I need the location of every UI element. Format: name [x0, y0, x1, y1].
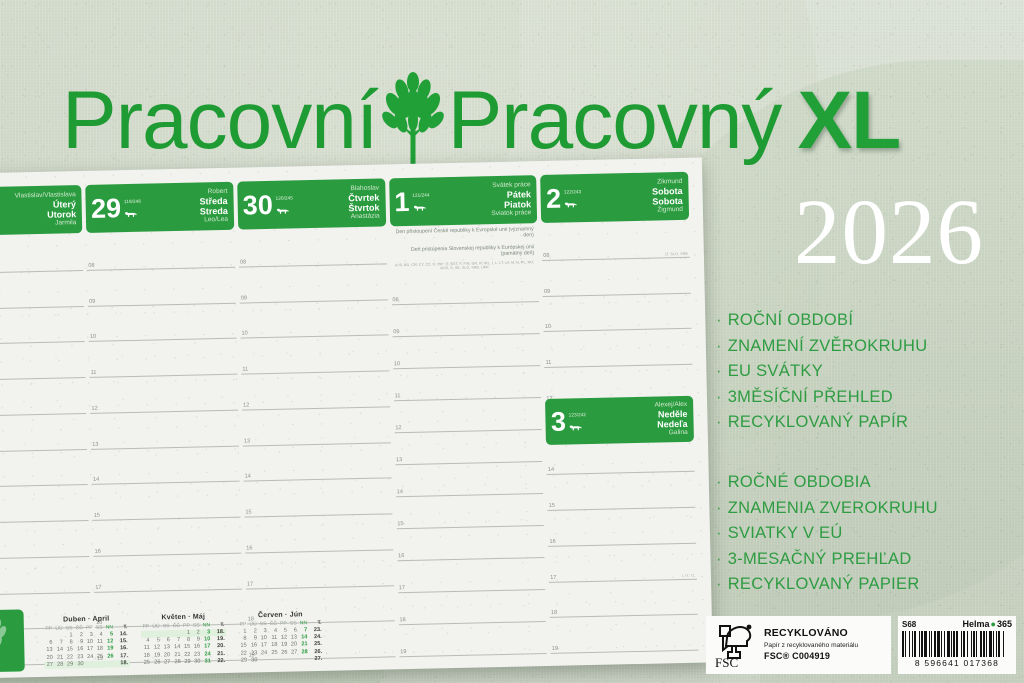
- week-number-box: 18. týden týždeň DUBEN · KVĚTEN APRÍL · …: [0, 609, 25, 676]
- mini-day[interactable]: [279, 656, 289, 663]
- feature-item: · SVIATKY V EÚ: [716, 521, 1016, 547]
- hour-row[interactable]: 16: [0, 521, 90, 560]
- mini-day[interactable]: 25: [269, 649, 280, 656]
- hour-row[interactable]: 09: [87, 267, 235, 306]
- hour-row[interactable]: 09: [542, 258, 690, 297]
- day-number: 2: [546, 185, 562, 212]
- mini-month-title: Květen · Máj: [141, 613, 226, 622]
- barcode-bar: [1004, 631, 1006, 657]
- bullet-icon: ·: [716, 362, 722, 380]
- hour-row[interactable]: 10: [88, 303, 236, 342]
- hour-row[interactable]: 13: [242, 407, 390, 446]
- hour-label: 14: [548, 467, 554, 473]
- feature-label: ROČNÍ OBDOBÍ: [728, 311, 854, 329]
- hour-label: 10: [394, 361, 400, 367]
- fsc-badge: FSC RECYKLOVÁNO Papír z recyklovaného ma…: [706, 616, 891, 674]
- mini-day[interactable]: 19: [151, 652, 162, 659]
- hour-label: 17: [247, 581, 253, 587]
- hour-row[interactable]: 09: [0, 271, 84, 310]
- weekday-cz: Čtvrtek: [348, 192, 379, 203]
- day-names: Svátek prácePátekPiatokSviatok práce: [491, 179, 532, 220]
- hour-row[interactable]: 14: [243, 443, 391, 482]
- mini-day[interactable]: 30: [75, 661, 86, 668]
- feature-item: · 3-MESAČNÝ PREHĽAD: [716, 547, 1016, 573]
- sku-label: S68: [902, 620, 916, 629]
- mini-day[interactable]: [299, 656, 310, 663]
- mini-day[interactable]: 23: [248, 650, 259, 657]
- mini-day[interactable]: 16: [248, 643, 259, 650]
- day-names: Vlastislav/VlastislavaÚterýUtorokJarmila: [14, 189, 76, 230]
- nameday-bottom: Galina: [655, 429, 688, 438]
- nameday-bottom: Jarmila: [15, 219, 76, 229]
- hour-row[interactable]: 17: [245, 550, 393, 589]
- brand-suffix: 365: [997, 619, 1012, 629]
- mini-day[interactable]: 28: [54, 661, 65, 668]
- hour-label: 15: [245, 509, 251, 515]
- hour-row[interactable]: 15: [396, 494, 544, 529]
- bullet-icon: ·: [716, 550, 722, 568]
- hour-country-note: I, IT, TL: [682, 573, 695, 577]
- hour-label: 08: [240, 259, 246, 265]
- taurus-icon: [124, 210, 137, 219]
- mini-day[interactable]: 18: [269, 642, 280, 649]
- feature-label: SVIATKY V EÚ: [728, 524, 843, 542]
- day-of-year: 122/243: [564, 189, 581, 194]
- svg-text:FSC: FSC: [715, 655, 738, 668]
- feature-list-czech: · ROČNÍ OBDOBÍ · ZNAMENÍ ZVĚROKRUHU · EU…: [716, 308, 1016, 436]
- nameday-bottom: Leo/Lea: [200, 216, 228, 225]
- mini-day[interactable]: 21: [54, 654, 65, 661]
- feature-label: ROČNÉ OBDOBIA: [728, 473, 871, 491]
- barcode-card: S68 Helma●365 8 596641 017368: [898, 616, 1016, 674]
- hour-row[interactable]: 15: [244, 479, 392, 518]
- hour-label: 11: [242, 366, 248, 372]
- hour-label: 12: [91, 405, 97, 411]
- bullet-icon: ·: [716, 337, 722, 355]
- feature-item: · ZNAMENÍ ZVĚROKRUHU: [716, 334, 1016, 360]
- mini-day[interactable]: [95, 660, 105, 667]
- nameday-bottom: Žigmund: [652, 206, 683, 215]
- bullet-icon: ·: [716, 473, 722, 491]
- day-number-group: 30120/245: [242, 184, 291, 225]
- feature-item: · ZNAMENIA ZVEROKRUHU: [716, 496, 1016, 522]
- mini-day[interactable]: 14: [54, 647, 65, 654]
- mini-week-number: 16.: [115, 645, 130, 653]
- mini-week-number: 26.: [309, 648, 324, 656]
- day-names: BlahoslavČtvrtekŠtvrtokAnastázia: [348, 183, 380, 224]
- nameday-bottom: Sviatok práce: [491, 209, 531, 218]
- feature-label: RECYKLOVANÝ PAPIER: [728, 575, 920, 593]
- hour-row[interactable]: 16: [548, 508, 696, 547]
- hour-label: 12: [395, 425, 401, 431]
- mini-day[interactable]: [105, 660, 116, 667]
- hour-label: 13: [92, 441, 98, 447]
- mini-week-row: 2526272829303122.: [142, 658, 227, 667]
- hour-row[interactable]: 12: [241, 371, 389, 410]
- mini-day[interactable]: 31: [202, 658, 213, 665]
- mini-dow: ČČ: [171, 623, 182, 630]
- mini-day[interactable]: 29: [182, 659, 192, 666]
- mini-month-title: Červen · Jún: [238, 611, 323, 620]
- mini-day[interactable]: 24: [202, 651, 213, 658]
- mini-week-number: 22.: [212, 658, 227, 666]
- mini-day[interactable]: 28: [172, 659, 183, 666]
- feature-label: 3MĚSÍČNÍ PŘEHLED: [728, 388, 893, 406]
- mini-day[interactable]: [259, 657, 269, 664]
- hour-label: 08: [543, 253, 549, 259]
- hour-label: 09: [544, 288, 550, 294]
- day-of-year: 123/242: [569, 412, 586, 417]
- hour-row[interactable]: 10: [240, 300, 388, 339]
- mini-dow: ÚÚ: [54, 625, 65, 632]
- day-header[interactable]: 30120/245BlahoslavČtvrtekŠtvrtokAnastázi…: [237, 178, 386, 229]
- feature-label: EU SVÁTKY: [728, 362, 823, 380]
- hour-label: 13: [244, 438, 250, 444]
- mini-day[interactable]: [269, 657, 280, 664]
- hour-label: 11: [395, 393, 401, 399]
- hour-row[interactable]: 14: [395, 462, 543, 497]
- title-czech: Pracovní: [62, 80, 378, 162]
- day-number-group: 3123/242: [551, 408, 585, 436]
- bullet-icon: ·: [716, 311, 722, 329]
- hour-label: 15: [94, 513, 100, 519]
- hour-row[interactable]: 12: [394, 398, 542, 433]
- day-number: 29: [91, 195, 122, 223]
- weekday-sk: Sobota: [652, 196, 683, 207]
- hour-row[interactable]: 16: [245, 514, 393, 553]
- feature-item: · RECYKLOVANÝ PAPIER: [716, 572, 1016, 598]
- holiday-note: Den přistoupení České republiky k Evrops…: [390, 223, 538, 260]
- feature-item: · EU SVÁTKY: [716, 359, 1016, 385]
- hour-country-note: IT, SLO, SRB: [665, 252, 688, 256]
- hour-row[interactable]: 13: [394, 430, 542, 465]
- fsc-line-1: RECYKLOVÁNO: [764, 628, 858, 640]
- brand-mark-icon: ●: [991, 619, 996, 629]
- hour-row[interactable]: 13: [0, 414, 87, 453]
- mini-month: Duben · AprilPPÚÚSSČČPPSSNNT.1234514.678…: [44, 615, 130, 669]
- brand-logo: Helma●365: [963, 619, 1012, 629]
- mini-week-number: 20.: [212, 643, 227, 651]
- day-header[interactable]: 1121/244Svátek prácePátekPiatokSviatok p…: [389, 175, 538, 226]
- brand-name: Helma: [963, 619, 990, 629]
- feature-label: ZNAMENÍ ZVĚROKRUHU: [728, 337, 928, 355]
- mini-month-title: Duben · April: [44, 615, 129, 624]
- title-slovak: Pracovný: [448, 80, 782, 162]
- day-of-year: 121/244: [412, 192, 429, 197]
- day-header[interactable]: 29119/246RobertStředaStredaLeo/Lea: [86, 182, 235, 233]
- mini-day[interactable]: 30: [192, 658, 202, 665]
- nameday-bottom: Anastázia: [349, 212, 380, 221]
- title-badge-xl: XL: [797, 80, 900, 162]
- mini-day[interactable]: 30: [249, 657, 260, 664]
- taurus-icon: [569, 423, 582, 432]
- hour-row[interactable]: 12: [90, 375, 238, 414]
- mini-week-row: 293027.: [239, 656, 324, 665]
- feature-list-slovak: · ROČNÉ OBDOBIA · ZNAMENIA ZVEROKRUHU · …: [716, 470, 1016, 598]
- fsc-tree-icon: FSC: [714, 622, 758, 668]
- day-number-group: 1121/244: [394, 181, 428, 222]
- hour-row[interactable]: 17: [0, 557, 90, 596]
- weekday-cz: Sobota: [652, 186, 683, 197]
- mini-week-number: 27.: [309, 656, 324, 664]
- fsc-line-2: Papír z recyklovaného materiálu: [764, 642, 858, 650]
- weekday-cz: Středa: [200, 196, 228, 207]
- hour-label: 10: [90, 334, 96, 340]
- hour-label: 14: [397, 489, 403, 495]
- hour-label: 16: [246, 545, 252, 551]
- hour-label: 16: [398, 553, 404, 559]
- day-number: 1: [394, 188, 410, 215]
- feature-label: RECYKLOVANÝ PAPÍR: [728, 413, 909, 431]
- sunday-block[interactable]: 3123/242Alexej/AlexNeděleNedeľaGalina: [545, 396, 694, 445]
- mini-day[interactable]: 25: [142, 659, 152, 666]
- mini-day[interactable]: 29: [239, 657, 249, 664]
- day-names: Alexej/AlexNeděleNedeľaGalina: [654, 401, 687, 438]
- hour-row[interactable]: 10: [543, 293, 691, 332]
- brand-wordmark: Pracovní Pracovný XL: [62, 66, 900, 176]
- mini-month-group: Duben · AprilPPÚÚSSČČPPSSNNT.1234514.678…: [44, 611, 324, 671]
- hour-row[interactable]: 14: [0, 449, 88, 488]
- bullet-icon: ·: [716, 524, 722, 542]
- mini-day[interactable]: 27: [45, 662, 55, 669]
- mini-day[interactable]: [289, 656, 299, 663]
- barcode-header: S68 Helma●365: [902, 619, 1012, 629]
- hour-row[interactable]: 09: [392, 302, 540, 337]
- mini-month: Květen · MájPPÚÚSSČČPPSSNNT.12318.456789…: [141, 613, 227, 667]
- hour-label: 14: [245, 474, 251, 480]
- mini-week-number: 17.: [115, 653, 130, 661]
- hour-label: 17: [550, 574, 556, 580]
- bullet-icon: ·: [716, 388, 722, 406]
- tree-icon: [382, 70, 444, 172]
- mini-month-table: PPÚÚSSČČPPSSNNT.12318.4567891019.1112131…: [141, 622, 227, 667]
- feature-item: · RECYKLOVANÝ PAPÍR: [716, 410, 1016, 436]
- fsc-text: RECYKLOVÁNO Papír z recyklovaného materi…: [764, 628, 858, 662]
- hour-row[interactable]: 11: [544, 329, 692, 368]
- day-number-group: 29119/246: [91, 188, 140, 229]
- calendar-sheet: 27117/248JaroslavPondělíPondelokJaroslav…: [0, 157, 713, 682]
- taurus-icon: [564, 200, 577, 209]
- day-of-year: 120/245: [276, 195, 293, 200]
- feature-item: · ROČNÉ OBDOBIA: [716, 470, 1016, 496]
- hour-row[interactable]: 17I, IT, TL: [549, 543, 697, 582]
- mini-week-number: 25.: [309, 641, 324, 649]
- year-label: 2026: [794, 186, 984, 279]
- hour-row[interactable]: 17: [94, 553, 242, 592]
- hour-row[interactable]: 11: [241, 336, 389, 375]
- mini-day[interactable]: 17: [202, 644, 213, 651]
- hour-label: 12: [243, 402, 249, 408]
- day-header[interactable]: 28118/247Vlastislav/VlastislavaÚterýUtor…: [0, 185, 83, 236]
- hour-row[interactable]: 15: [92, 482, 240, 521]
- hour-label: 17: [95, 584, 101, 590]
- hour-row[interactable]: 10: [0, 307, 85, 346]
- hour-label: 08: [392, 297, 398, 303]
- mini-day[interactable]: [85, 661, 95, 668]
- hour-row[interactable]: 14: [91, 446, 239, 485]
- poster-canvas: Pracovní Pracovný XL: [0, 0, 1024, 683]
- hour-row[interactable]: 15: [547, 472, 695, 511]
- mini-month-table: PPÚÚSSČČPPSSNNT.123456723.89101112131424…: [238, 620, 324, 665]
- hour-row[interactable]: 15: [0, 485, 89, 524]
- feature-label: 3-MESAČNÝ PREHĽAD: [728, 550, 912, 568]
- day-number: 3: [551, 408, 567, 435]
- mini-day[interactable]: 29: [65, 661, 75, 668]
- mini-day[interactable]: 23: [75, 654, 86, 661]
- hour-label: 16: [95, 548, 101, 554]
- hour-row[interactable]: 16: [397, 526, 545, 561]
- feature-label: ZNAMENIA ZVEROKRUHU: [728, 499, 938, 517]
- hour-label: 11: [91, 370, 97, 376]
- hour-row[interactable]: 08: [391, 270, 539, 305]
- hour-label: 10: [241, 331, 247, 337]
- day-header[interactable]: 2122/243ZikmundSobotaSobotaŽigmund: [540, 172, 689, 223]
- weekday-sk: Streda: [200, 206, 228, 217]
- hour-row[interactable]: 13: [91, 410, 239, 449]
- hour-label: 15: [397, 521, 403, 527]
- mini-week-number: 21.: [212, 651, 227, 659]
- mini-day[interactable]: 26: [152, 659, 163, 666]
- barcode-bars: [902, 631, 1012, 657]
- country-codes-note: A, B, BG, CR, CY, CZ, D, DK*, E, EST, F,…: [391, 257, 539, 272]
- hour-label: 10: [545, 324, 551, 330]
- hour-row[interactable]: 11: [0, 342, 86, 381]
- hour-row[interactable]: 11: [393, 366, 541, 401]
- feature-item: · 3MĚSÍČNÍ PŘEHLED: [716, 385, 1016, 411]
- day-names: ZikmundSobotaSobotaŽigmund: [652, 176, 683, 217]
- hour-row[interactable]: 16: [93, 518, 241, 557]
- day-number: 30: [242, 191, 273, 219]
- hour-label: 13: [396, 457, 402, 463]
- hour-row[interactable]: 08: [0, 235, 83, 274]
- hour-row[interactable]: 08: [87, 232, 235, 271]
- hour-label: 09: [241, 295, 247, 301]
- hour-label: 09: [89, 298, 95, 304]
- hour-label: 08: [88, 263, 94, 269]
- feature-item: · ROČNÍ OBDOBÍ: [716, 308, 1016, 334]
- bullet-icon: ·: [716, 413, 722, 431]
- hour-row[interactable]: 10: [392, 334, 540, 369]
- weekday-sk: Štvrtok: [348, 202, 379, 213]
- hour-label: 16: [549, 539, 555, 545]
- bullet-icon: ·: [716, 575, 722, 593]
- day-number-group: 2122/243: [546, 178, 580, 219]
- hour-row[interactable]: 08: [238, 228, 386, 267]
- taurus-icon: [276, 207, 289, 216]
- day-of-year: 119/246: [124, 199, 141, 204]
- hour-label: 15: [549, 503, 555, 509]
- hour-row[interactable]: 12: [0, 378, 87, 417]
- fsc-line-3: FSC® C004919: [764, 652, 858, 662]
- mini-week-number: 18.: [115, 660, 130, 668]
- taurus-icon: [412, 204, 425, 213]
- hour-row[interactable]: 08IT, SLO, SRB: [542, 222, 690, 261]
- hour-label: 14: [93, 477, 99, 483]
- bullet-icon: ·: [716, 499, 722, 517]
- mini-month: Červen · JúnPPÚÚSSČČPPSSNNT.123456723.89…: [238, 611, 324, 665]
- mini-day[interactable]: 16: [74, 646, 85, 653]
- hour-label: 09: [393, 329, 399, 335]
- mini-month-table: PPÚÚSSČČPPSSNNT.1234514.678910111215.131…: [44, 624, 130, 669]
- day-names: RobertStředaStredaLeo/Lea: [199, 186, 228, 227]
- hour-row[interactable]: 11: [89, 339, 237, 378]
- barcode-digits: 8 596641 017368: [902, 658, 1012, 668]
- hour-row[interactable]: 09: [239, 264, 387, 303]
- mini-day[interactable]: 27: [162, 659, 172, 666]
- tree-icon: [0, 614, 17, 669]
- mini-week-row: 2728293018.: [45, 660, 130, 669]
- hour-label: 11: [546, 360, 552, 366]
